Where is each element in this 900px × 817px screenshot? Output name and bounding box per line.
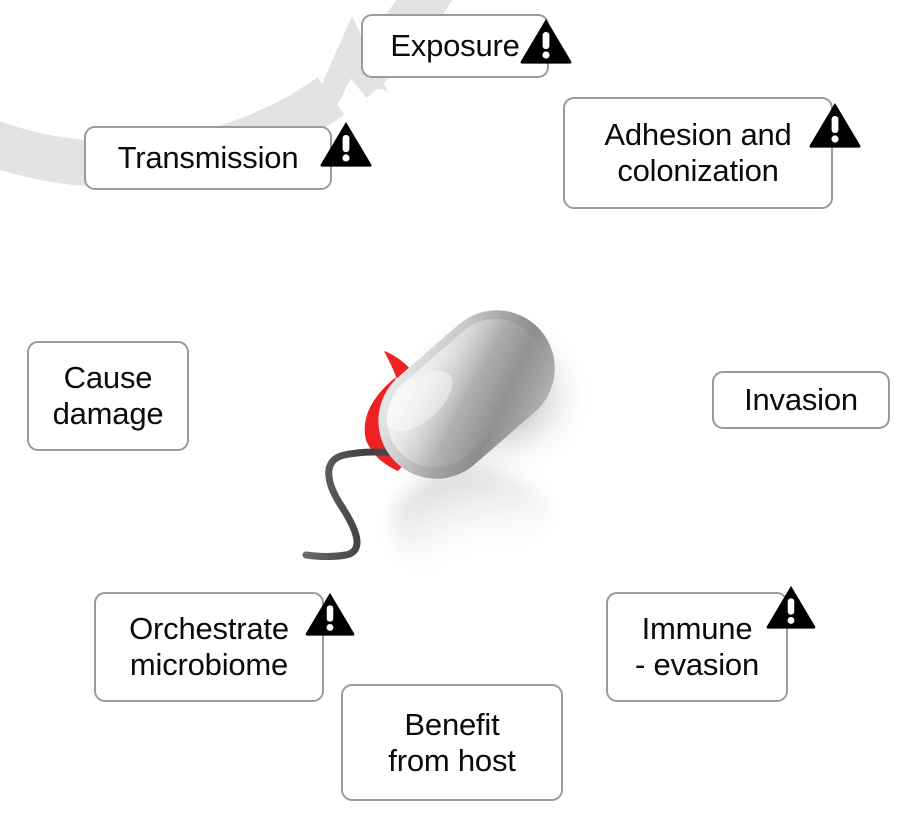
stage-label-text: Exposure — [390, 28, 519, 64]
stage-label-transmission[interactable]: Transmission — [84, 126, 332, 190]
stage-label-text: Immune - evasion — [635, 611, 759, 683]
stage-label-immune-evasion[interactable]: Immune - evasion — [606, 592, 788, 702]
stage-label-text: Transmission — [118, 140, 299, 176]
stage-label-text: Orchestrate microbiome — [129, 611, 289, 683]
stage-label-benefit-from-host[interactable]: Benefit from host — [341, 684, 563, 801]
diagram-canvas: Exposure Adhesion and colonization Invas… — [0, 0, 900, 817]
stage-label-text: Invasion — [744, 382, 858, 418]
warning-triangle-icon — [519, 17, 573, 65]
warning-triangle-icon — [304, 591, 356, 637]
stage-label-text: Adhesion and colonization — [604, 117, 791, 189]
bacterium-rod-icon — [355, 286, 579, 502]
warning-triangle-icon — [808, 101, 862, 149]
stage-label-invasion[interactable]: Invasion — [712, 371, 890, 429]
stage-label-text: Cause damage — [53, 360, 164, 432]
stage-label-orchestrate-microbiome[interactable]: Orchestrate microbiome — [94, 592, 324, 702]
stage-label-text: Benefit from host — [388, 707, 515, 779]
central-microbe-illustration — [300, 255, 630, 585]
warning-triangle-icon — [765, 584, 817, 630]
stage-label-cause-damage[interactable]: Cause damage — [27, 341, 189, 451]
warning-triangle-icon — [319, 120, 373, 168]
stage-label-adhesion-and-colonization[interactable]: Adhesion and colonization — [563, 97, 833, 209]
